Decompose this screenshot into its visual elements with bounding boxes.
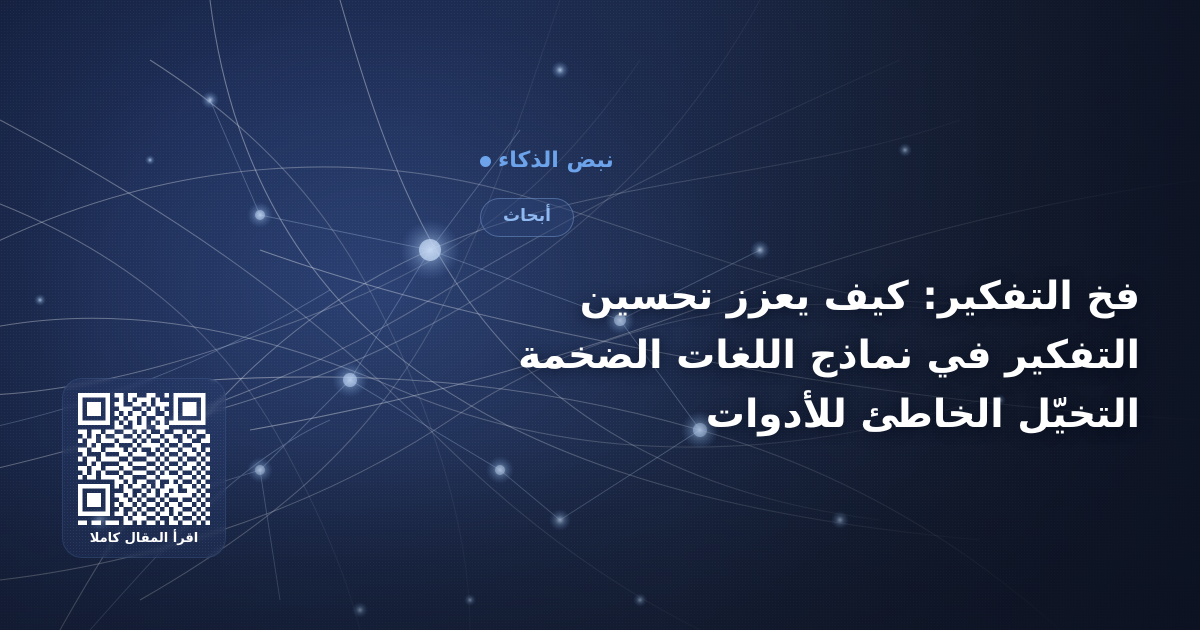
article-title: فخ التفكير: كيف يعزز تحسين التفكير في نم… <box>480 267 1140 445</box>
social-share-card: نبض الذكاء أبحاث فخ التفكير: كيف يعزز تح… <box>0 0 1200 630</box>
category-badge[interactable]: أبحاث <box>480 198 574 237</box>
content-column: نبض الذكاء أبحاث فخ التفكير: كيف يعزز تح… <box>480 0 1200 630</box>
brand-dot-icon <box>480 156 491 167</box>
qr-caption: اقرأ المقال كاملا <box>90 532 199 545</box>
brand-logo: نبض الذكاء <box>480 150 614 172</box>
qr-code-card[interactable]: اقرأ المقال كاملا <box>62 378 226 558</box>
qr-code-icon <box>78 393 210 525</box>
brand-name: نبض الذكاء <box>498 150 614 172</box>
